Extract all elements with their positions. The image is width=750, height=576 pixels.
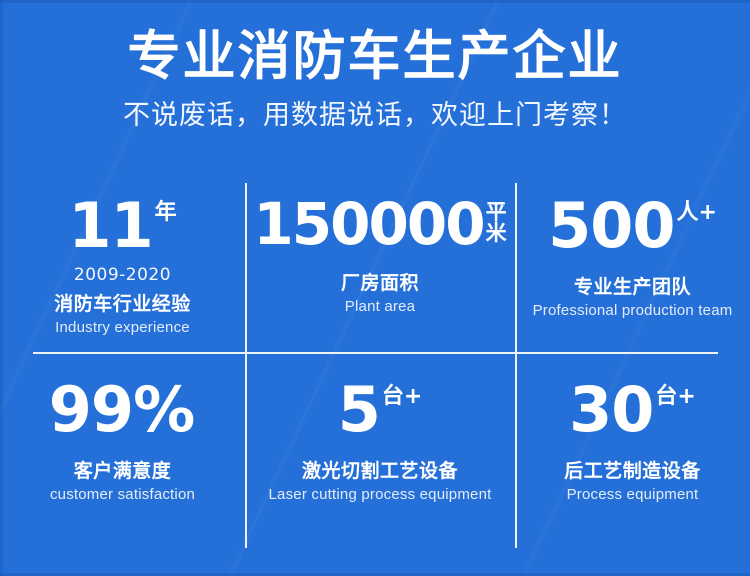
stat-unit: 年 <box>155 197 177 224</box>
stat-unit-char-1: 平 <box>486 202 507 223</box>
stat-unit-char-2: 米 <box>486 223 507 244</box>
stat-label-cn: 专业生产团队 <box>574 272 691 299</box>
stats-grid: 11 年 2009-2020 消防车行业经验 Industry experien… <box>0 183 750 549</box>
stat-number-line: 5 台+ <box>338 381 423 440</box>
stat-label-en: Industry experience <box>55 319 190 336</box>
stat-cell-laser-cutting-equipment: 5 台+ 激光切割工艺设备 Laser cutting process equi… <box>245 353 515 549</box>
stat-cell-industry-experience: 11 年 2009-2020 消防车行业经验 Industry experien… <box>0 183 245 353</box>
stat-cell-production-team: 500 人+ 专业生产团队 Professional production te… <box>515 183 750 353</box>
page-subtitle: 不说废话，用数据说话，欢迎上门考察！ <box>0 89 750 133</box>
stat-number-line: 11 年 <box>68 197 176 256</box>
stat-unit: 台+ <box>382 381 422 408</box>
stat-label-en: Professional production team <box>533 302 733 319</box>
banner-header: 专业消防车生产企业 不说废话，用数据说话，欢迎上门考察！ <box>0 0 750 132</box>
stat-label-en: Plant area <box>345 298 415 315</box>
stat-unit: 平 米 <box>486 197 507 244</box>
stat-label-en: Process equipment <box>567 486 699 503</box>
stat-number: 30 <box>569 381 653 440</box>
stat-number-line: 500 人+ <box>548 197 717 256</box>
stat-number: 11 <box>68 197 152 256</box>
stat-cell-plant-area: 150000 平 米 厂房面积 Plant area <box>245 183 515 353</box>
stat-label-cn: 厂房面积 <box>341 268 419 295</box>
stat-label-cn: 激光切割工艺设备 <box>302 456 458 483</box>
stat-sub-note: 2009-2020 <box>74 265 171 285</box>
stat-cell-customer-satisfaction: 99% 客户满意度 customer satisfaction <box>0 353 245 549</box>
page-title: 专业消防车生产企业 <box>0 0 750 89</box>
stat-unit: 人+ <box>676 197 716 224</box>
stat-number-line: 99% <box>49 381 196 440</box>
stat-cell-process-equipment: 30 台+ 后工艺制造设备 Process equipment <box>515 353 750 549</box>
stat-label-cn: 消防车行业经验 <box>54 289 191 316</box>
stat-number: 500 <box>548 197 674 256</box>
stat-number: 150000 <box>253 197 483 252</box>
stat-number-line: 30 台+ <box>569 381 696 440</box>
stat-number-line: 150000 平 米 <box>253 197 506 252</box>
promo-banner: 专业消防车生产企业 不说废话，用数据说话，欢迎上门考察！ 11 年 2009-2… <box>0 0 750 576</box>
stat-unit: 台+ <box>655 381 695 408</box>
stat-label-cn: 后工艺制造设备 <box>564 456 701 483</box>
stat-number: 99% <box>49 381 194 440</box>
stat-label-en: customer satisfaction <box>50 486 195 503</box>
stat-label-cn: 客户满意度 <box>74 456 172 483</box>
stat-number: 5 <box>338 381 380 440</box>
stat-label-en: Laser cutting process equipment <box>269 486 492 503</box>
